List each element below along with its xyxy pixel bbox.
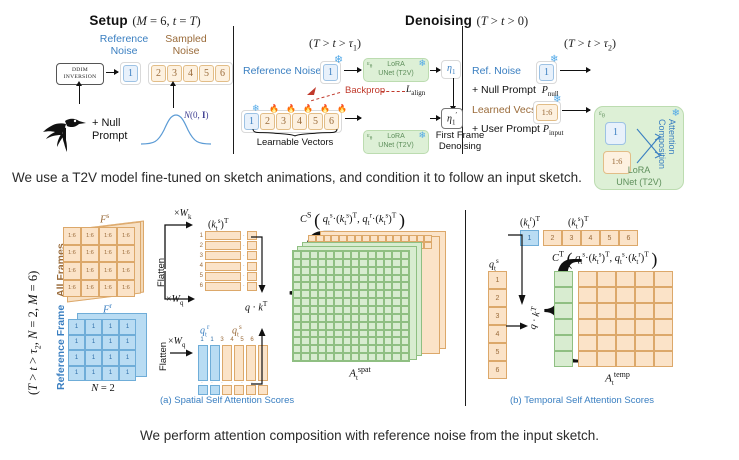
attention-composition-label-1: Attention	[667, 119, 677, 155]
lora-unet-box: εθ ❄ 1 1:6 Attention Composition LoRA UN…	[594, 106, 684, 190]
stage2-ref-token: 1	[539, 64, 554, 81]
frame-cell: 1:6	[117, 227, 135, 245]
lora-ref-token-box: 1	[605, 122, 626, 145]
frame-cell: 1:6	[63, 227, 81, 245]
ref-cell: 1	[102, 350, 119, 366]
eta-prime-box: η1′	[441, 108, 463, 129]
snowflake-icon: ❄	[553, 95, 561, 105]
setup-condition: (M = 6, t = T)	[132, 14, 200, 28]
snowflake-icon: ❄	[334, 55, 343, 66]
learnable-vectors-brace	[252, 128, 338, 137]
gaussian-label: N(0, I)	[184, 110, 209, 120]
q-col-tail	[234, 385, 244, 395]
denoising-panel-title: Denoising (T > t > 0)	[405, 12, 528, 30]
arrow-eta-down	[453, 78, 454, 106]
temporal-caption: (b) Temporal Self Attention Scores	[510, 395, 654, 406]
key-cell: 6	[619, 230, 638, 246]
frame-cell: 1:6	[99, 262, 117, 280]
query-cell: 4	[488, 325, 507, 343]
query-cell: 1	[488, 271, 507, 289]
q-col-tail	[222, 385, 232, 395]
frame-cell: 1:6	[99, 245, 117, 263]
N-equals-label: N = 2	[68, 383, 138, 394]
key-row: 6 ·	[196, 282, 257, 291]
ref-cell: 1	[102, 366, 119, 382]
key-row: 4 ·	[196, 262, 257, 271]
ref-cell: 1	[85, 319, 102, 335]
flame-icon: 🔥	[320, 105, 330, 113]
temporal-attn-green-col	[554, 271, 573, 367]
unet-box-top: εθ LoRA UNet (T2V) ❄	[363, 58, 429, 82]
snowflake-icon: ❄	[550, 55, 558, 65]
ref-cell: 1	[68, 319, 85, 335]
times-Wq-label-1: ×Wq	[166, 294, 183, 307]
frame-cell: 1:6	[117, 245, 135, 263]
reference-frame-grid: 1 1 1 1 1 1 1 1 1 1 1 1 1 1 1 1	[68, 319, 136, 381]
ref-cell: 1	[119, 366, 136, 382]
q-column-index-row: 1 1 3 4 5 6	[198, 337, 256, 343]
query-cell: 5	[488, 343, 507, 361]
attention-composition-label-2: Composition	[657, 119, 667, 169]
q-col-tail	[210, 385, 220, 395]
flatten-lower-arrow	[170, 347, 198, 359]
null-prompt-row: + Null Prompt Pnull	[472, 84, 559, 98]
sentence-bottom: We perform attention composition with re…	[0, 428, 739, 443]
key-row: 2 ·	[196, 241, 257, 250]
loss-align-label: Lalign	[406, 85, 425, 97]
bottom-condition-label: (T > t > τ2, N = 2, M = 6)	[26, 271, 43, 395]
arrow-bird-to-ddim	[79, 86, 80, 104]
query-cell: 3	[488, 307, 507, 325]
arrow-learned-to-lora	[562, 110, 590, 111]
q-col	[234, 345, 244, 381]
backprop-label: Backprop	[345, 85, 385, 96]
figure-page: Setup (M = 6, t = T) ReferenceNoise Samp…	[0, 0, 739, 460]
reference-noise-label: ReferenceNoise	[93, 33, 155, 57]
ref-cell: 1	[68, 350, 85, 366]
denoising-title: Denoising	[405, 13, 472, 28]
eta-top-label: η1	[447, 63, 455, 76]
learnable-vectors-label: Learnable Vectors	[240, 137, 350, 148]
stage2-condition: (T > t > τ2)	[520, 36, 660, 52]
sampled-noise-label: SampledNoise	[155, 33, 217, 57]
flatten-upper-arrows	[162, 219, 198, 305]
F-s-label: Fs	[100, 211, 109, 226]
eta-top-box: η1	[441, 60, 461, 79]
qk-bracket-lower	[250, 310, 266, 388]
snowflake-icon: ❄	[252, 104, 260, 113]
backprop-dashed-right	[381, 91, 405, 92]
key-row: 5 ·	[196, 272, 257, 281]
stage1-reference-noise-label: Reference Noise	[243, 65, 321, 77]
frame-cell: 1:6	[81, 262, 99, 280]
bottom-figure: (T > t > τ2, N = 2, M = 6) All Frames Fs…	[0, 205, 739, 413]
arrow-unet-to-eta-bot	[430, 118, 440, 119]
frame-cell: 1:6	[99, 227, 117, 245]
divider-3	[465, 210, 466, 406]
reference-frame-label: Reference Frame	[55, 305, 67, 390]
arrow-gauss-to-sampled	[173, 86, 174, 108]
frame-cell: 1:6	[117, 280, 135, 298]
stage2-learned-token: 1:6	[536, 104, 558, 121]
user-prompt-row: + User Prompt Pinput	[472, 123, 563, 137]
temporal-attn-tan-grid	[578, 271, 673, 367]
ref-cell: 1	[102, 319, 119, 335]
flame-icon: 🔥	[286, 105, 296, 113]
snowflake-icon: ❄	[418, 59, 426, 68]
query-cell: 2	[488, 289, 507, 307]
setup-sampled-token: 6	[215, 65, 230, 82]
spatial-composition-formula: CS ( qts·(kts)T, qtr·(kts)T )	[300, 210, 405, 231]
spatial-caption: (a) Spatial Self Attention Scores	[160, 395, 294, 406]
setup-panel-title: Setup (M = 6, t = T)	[60, 12, 230, 30]
k-s-transpose-label: (kts)T	[208, 216, 228, 232]
frame-cell: 1:6	[81, 280, 99, 298]
ref-cell: 1	[68, 366, 85, 382]
arrow-ddim-to-ref	[106, 72, 118, 73]
backprop-arrowhead	[305, 86, 317, 98]
flame-icon: 🔥	[337, 105, 347, 113]
ref-cell: 1	[85, 366, 102, 382]
top-figure: Setup (M = 6, t = T) ReferenceNoise Samp…	[0, 0, 739, 160]
frame-cell: 1:6	[63, 262, 81, 280]
times-Wk-label: ×Wk	[174, 208, 191, 221]
k-s-transpose-label-b: (kts)T	[568, 214, 588, 230]
ref-cell: 1	[102, 335, 119, 351]
ref-noise-label: Ref. Noise	[472, 65, 521, 77]
arrow-ref-to-unet-top	[344, 70, 361, 71]
qk-label-spatial: q · kT	[245, 299, 267, 313]
stage1-condition: (T > t > τ1)	[275, 36, 395, 52]
key-rows-container: 1 · 2 · 3 · 4 · 5 ·	[196, 231, 257, 291]
setup-title: Setup	[89, 13, 128, 28]
frame-cell: 1:6	[81, 227, 99, 245]
ref-cell: 1	[85, 350, 102, 366]
q-col	[210, 345, 220, 381]
ref-cell: 1	[119, 319, 136, 335]
frame-cell: 1:6	[63, 280, 81, 298]
divider-1	[233, 26, 234, 154]
sentence-top: We use a T2V model fine-tuned on sketch …	[12, 170, 582, 185]
q-col	[198, 345, 208, 381]
setup-sampled-token: 5	[199, 65, 214, 82]
A-temp-label: Attemp	[560, 370, 675, 387]
setup-sampled-token: 4	[183, 65, 198, 82]
setup-sampled-token: 2	[151, 65, 166, 82]
key-row: 3 ·	[196, 251, 257, 260]
frame-cell: 1:6	[117, 262, 135, 280]
null-prompt-label: + NullPrompt	[92, 117, 127, 143]
ref-cell: 1	[68, 335, 85, 351]
snowflake-icon: ❄	[672, 109, 680, 119]
key-row: 1 ·	[196, 231, 257, 240]
setup-reference-token-group: 1	[120, 62, 141, 85]
q-col-tail	[198, 385, 208, 395]
eps-theta-label: εθ	[599, 109, 605, 119]
denoising-condition: (T > t > 0)	[477, 14, 529, 28]
frame-cell: 1:6	[81, 245, 99, 263]
setup-sampled-token: 3	[167, 65, 182, 82]
ref-cell: 1	[119, 350, 136, 366]
query-cell: 6	[488, 361, 507, 379]
learned-vecs-label: Learned Vecs	[472, 104, 536, 116]
key-cell: 5	[600, 230, 619, 246]
lora-ref-token: 1	[608, 125, 623, 142]
eta-prime-label: η1′	[447, 111, 457, 126]
stage1-ref-token: 1	[323, 64, 338, 81]
flame-icon: 🔥	[269, 105, 279, 113]
arrow-ref-to-lora	[560, 70, 590, 71]
arrow-unet-to-eta-top	[430, 70, 440, 71]
setup-ref-token: 1	[123, 65, 138, 82]
ref-cell: 1	[85, 335, 102, 351]
arrow-learn-to-unet-bot	[345, 118, 361, 119]
ref-cell: 1	[119, 335, 136, 351]
all-frames-grid: 1:6 1:6 1:6 1:6 1:6 1:6 1:6 1:6 1:6 1:6 …	[63, 227, 135, 297]
k-r-transpose-label: (ktr)T	[520, 214, 540, 230]
qk-bracket-upper	[250, 235, 266, 297]
temporal-composition-formula: CT ( qts·(kts)T, qts·(ktr)T )	[552, 249, 657, 270]
hummingbird-icon	[42, 105, 88, 153]
setup-sampled-token-group: 2 3 4 5 6	[148, 62, 233, 85]
A-spat-label: Atspat	[300, 365, 420, 382]
temporal-query-column: 1 2 3 4 5 6	[488, 271, 507, 379]
frame-cell: 1:6	[99, 280, 117, 298]
flame-icon: 🔥	[303, 105, 313, 113]
attn-green-grid	[292, 250, 410, 362]
q-col	[222, 345, 232, 381]
frame-cell: 1:6	[63, 245, 81, 263]
